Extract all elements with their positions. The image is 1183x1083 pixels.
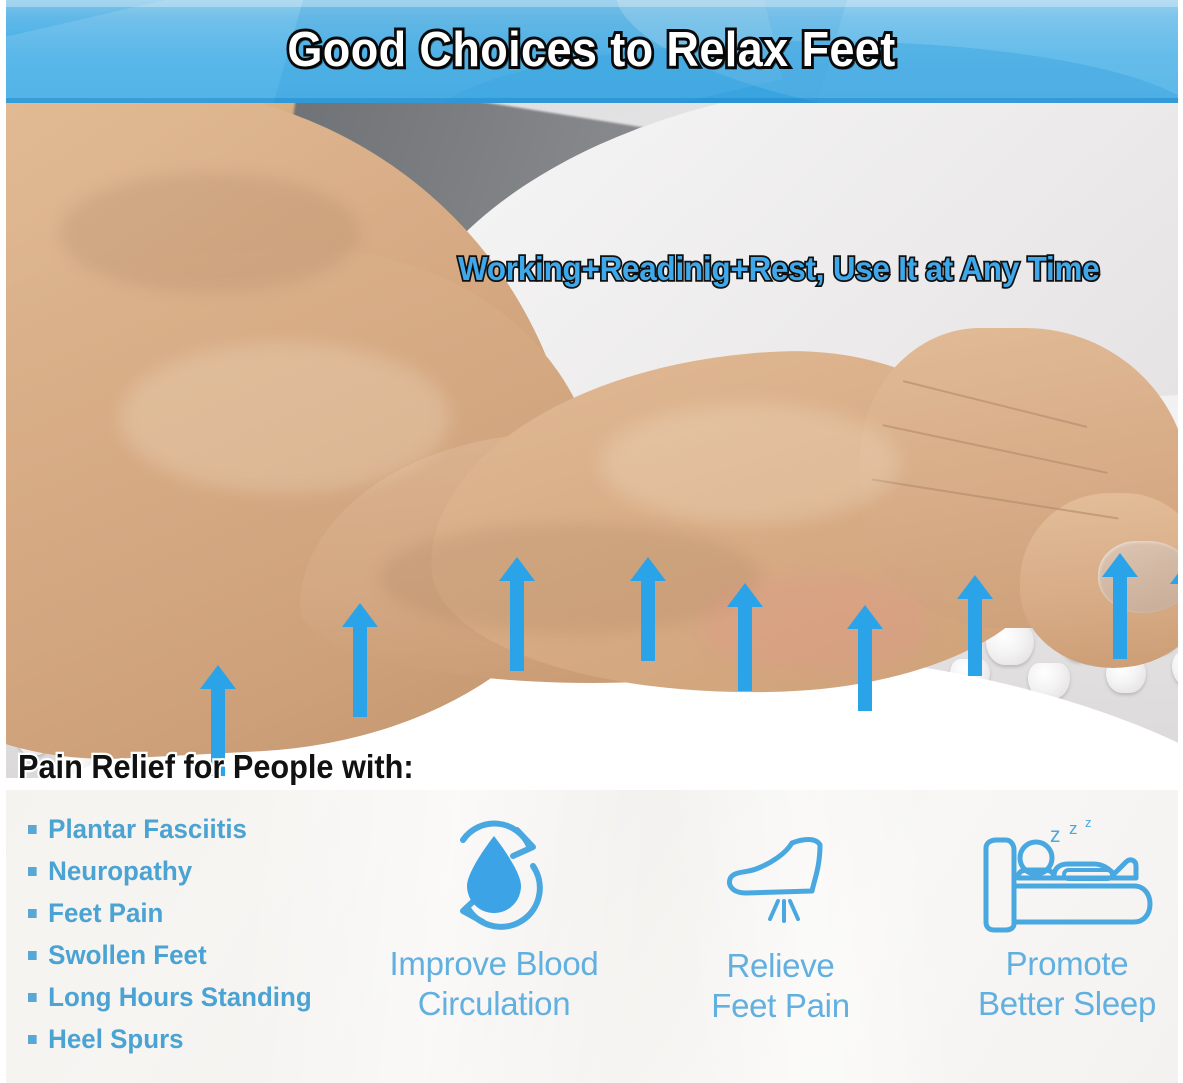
benefit-caption-line2: Feet Pain <box>711 986 850 1026</box>
condition-list: Plantar FasciitisNeuropathyFeet PainSwol… <box>28 808 398 1060</box>
water-drop-circulation-icon <box>429 812 559 942</box>
hero-photo: Working+Readinig+Rest, Use It at Any Tim… <box>0 103 1183 778</box>
skin-shade-1 <box>60 173 360 293</box>
benefit-improve-circulation: Improve Blood Circulation <box>364 812 624 1024</box>
bullet-icon <box>28 1035 37 1044</box>
pain-relief-heading: Pain Relief for People with: <box>18 745 414 789</box>
benefit-caption-line2: Circulation <box>390 984 599 1024</box>
left-border <box>0 0 6 1083</box>
svg-text:z: z <box>1050 824 1061 847</box>
condition-label: Plantar Fasciitis <box>48 808 247 850</box>
bullet-icon <box>28 993 37 1002</box>
bullet-icon <box>28 951 37 960</box>
pressure-arrow <box>628 555 668 668</box>
pressure-arrow <box>725 581 765 698</box>
pressure-arrow <box>340 601 380 724</box>
condition-item: Feet Pain <box>28 892 383 934</box>
hero-subtitle: Working+Readinig+Rest, Use It at Any Tim… <box>458 247 1099 291</box>
condition-item: Plantar Fasciitis <box>28 808 383 850</box>
pressure-arrow <box>845 603 885 718</box>
benefit-caption-line1: Promote <box>978 944 1156 984</box>
bullet-icon <box>28 909 37 918</box>
product-infographic: Good Choices to Relax Feet Working+Readi… <box>0 0 1183 1083</box>
svg-text:z: z <box>1085 815 1092 830</box>
banner-top-highlight <box>0 0 1183 7</box>
benefits-panel: Plantar FasciitisNeuropathyFeet PainSwol… <box>0 790 1183 1083</box>
bullet-icon <box>28 825 37 834</box>
pressure-arrow <box>1100 551 1140 666</box>
benefit-caption: Relieve Feet Pain <box>711 946 850 1026</box>
condition-item: Neuropathy <box>28 850 383 892</box>
bullet-icon <box>28 867 37 876</box>
right-border <box>1178 0 1183 1083</box>
condition-item: Swollen Feet <box>28 934 383 976</box>
benefit-caption: Improve Blood Circulation <box>390 944 599 1024</box>
pressure-arrow <box>497 555 537 678</box>
condition-label: Swollen Feet <box>48 934 206 976</box>
page-title: Good Choices to Relax Feet <box>47 18 1135 82</box>
person-sleeping-bed-icon: z z z <box>976 812 1158 942</box>
svg-text:z: z <box>1069 819 1078 838</box>
benefit-caption-line2: Better Sleep <box>978 984 1156 1024</box>
benefit-caption: Promote Better Sleep <box>978 944 1156 1024</box>
skin-highlight-1 <box>120 343 450 493</box>
benefit-relieve-feet-pain: Relieve Feet Pain <box>651 826 911 1026</box>
condition-label: Long Hours Standing <box>48 976 312 1018</box>
condition-item: Heel Spurs <box>28 1018 383 1060</box>
benefit-caption-line1: Relieve <box>711 946 850 986</box>
skin-highlight-2 <box>600 403 900 523</box>
condition-label: Heel Spurs <box>48 1018 183 1060</box>
condition-label: Neuropathy <box>48 850 192 892</box>
foot-relief-icon <box>716 826 846 944</box>
benefit-row: Improve Blood Circulation Relieve <box>370 812 1183 1074</box>
condition-item: Long Hours Standing <box>28 976 383 1018</box>
benefit-caption-line1: Improve Blood <box>390 944 599 984</box>
benefit-promote-better-sleep: z z z Promote Better Sleep <box>937 812 1183 1024</box>
condition-label: Feet Pain <box>48 892 163 934</box>
pressure-arrow <box>955 573 995 683</box>
